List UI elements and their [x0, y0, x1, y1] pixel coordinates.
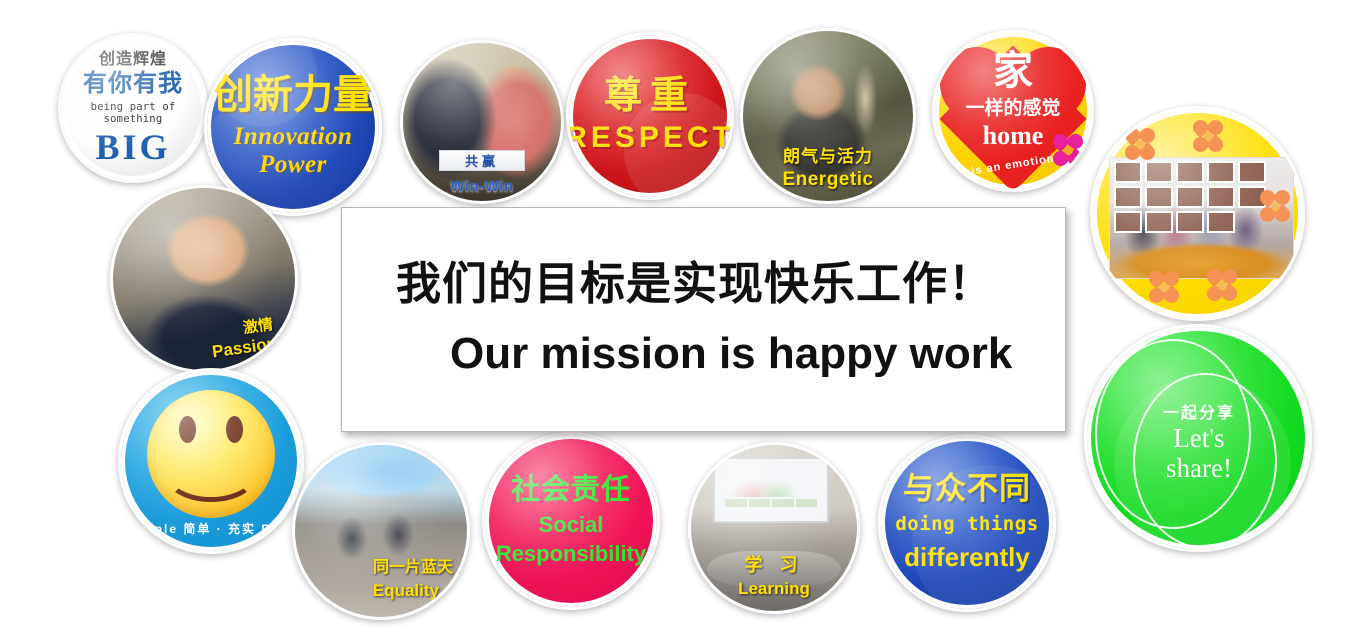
badge-lets-share[interactable]: 一起分享 Let's share!	[1084, 324, 1312, 552]
badge-social-line1: 社会责任	[511, 475, 631, 505]
badge-home-is-an-emotion[interactable]: 家 一样的感觉 home is an emotion	[932, 30, 1094, 192]
badge-learning-caption-en: Learning	[691, 579, 857, 599]
badge-share-text-block: 一起分享 Let's share!	[1137, 399, 1261, 483]
badge-winwin-plate-text: 共赢	[465, 151, 499, 170]
mission-headline-en: Our mission is happy work	[450, 329, 1065, 379]
badge-social-line3: Responsibility	[496, 541, 646, 567]
badge-learning[interactable]: 学 习 Learning	[688, 442, 860, 614]
badge-share-line3: share!	[1137, 453, 1261, 483]
flower-icon	[1147, 270, 1181, 304]
projector-screen	[713, 457, 829, 523]
badge-energetic-caption-en: Energetic	[743, 169, 913, 191]
badge-simple-and-rich[interactable]: Simple 简单 · 充实 Rich	[118, 368, 304, 554]
flower-icon	[1123, 127, 1157, 161]
badge-passion[interactable]: 激情 Passion	[110, 185, 298, 373]
badge-respect[interactable]: 尊重 RESPECT	[566, 32, 734, 200]
badge-big-line4: BIG	[95, 129, 170, 165]
badge-social-line2: Social	[539, 512, 604, 538]
screen-chart	[729, 471, 807, 497]
badge-share-line1: 一起分享	[1137, 399, 1261, 423]
mission-headline-cn: 我们的目标是实现快乐工作！	[396, 260, 1065, 307]
mission-statement-panel: 我们的目标是实现快乐工作！ Our mission is happy work	[341, 207, 1066, 432]
flower-icon	[1258, 189, 1292, 223]
badge-big-line1: 创造辉煌	[99, 51, 167, 69]
badge-differently-line1: 与众不同	[903, 473, 1031, 504]
badge-innovation-line2: Innovation Power	[207, 123, 379, 179]
badge-winwin-plate: 共赢	[439, 150, 525, 171]
badge-home-line1: 家	[935, 51, 1091, 91]
flower-icon	[1051, 133, 1085, 167]
badge-home-line2: 一样的感觉	[935, 93, 1091, 120]
badge-respect-line1: 尊重	[604, 77, 696, 115]
badge-equality-caption-en: Equality	[373, 581, 439, 601]
flower-icon	[1191, 119, 1225, 153]
values-collage: 创造辉煌 有你有我 being part of something BIG 创新…	[0, 0, 1366, 635]
badge-learning-caption-cn: 学 习	[691, 551, 857, 577]
badge-share-line2: Let's	[1137, 423, 1261, 453]
flower-icon	[1205, 268, 1239, 302]
badge-big-line3: being part of something	[61, 101, 205, 125]
screen-bars	[725, 499, 817, 507]
badge-equality-caption-cn: 同一片蓝天	[373, 553, 453, 577]
badge-social-responsibility[interactable]: 社会责任 Social Responsibility	[482, 432, 660, 610]
badge-doing-things-differently[interactable]: 与众不同 doing things differently	[878, 434, 1056, 612]
badge-equality[interactable]: 同一片蓝天 Equality	[292, 442, 470, 620]
badge-differently-line3: differently	[904, 542, 1030, 573]
badge-big-line2: 有你有我	[83, 70, 183, 99]
badge-win-win[interactable]: 共赢 Win-Win	[400, 40, 564, 204]
badge-differently-line2: doing things	[895, 513, 1038, 535]
badge-energetic-caption-cn: 朗气与活力	[743, 142, 913, 167]
badge-energetic[interactable]: 朗气与活力 Energetic	[740, 28, 916, 204]
smiley-face-icon	[147, 390, 275, 518]
badge-smile-arc-text: Simple 简单 · 充实 Rich	[121, 520, 301, 537]
badge-being-part-of-something-big[interactable]: 创造辉煌 有你有我 being part of something BIG	[58, 33, 208, 183]
badge-innovation-line1: 创新力量	[213, 75, 373, 115]
badge-team-photo[interactable]	[1090, 106, 1305, 321]
badge-respect-line2: RESPECT	[566, 121, 734, 155]
badge-winwin-caption: Win-Win	[403, 178, 561, 195]
